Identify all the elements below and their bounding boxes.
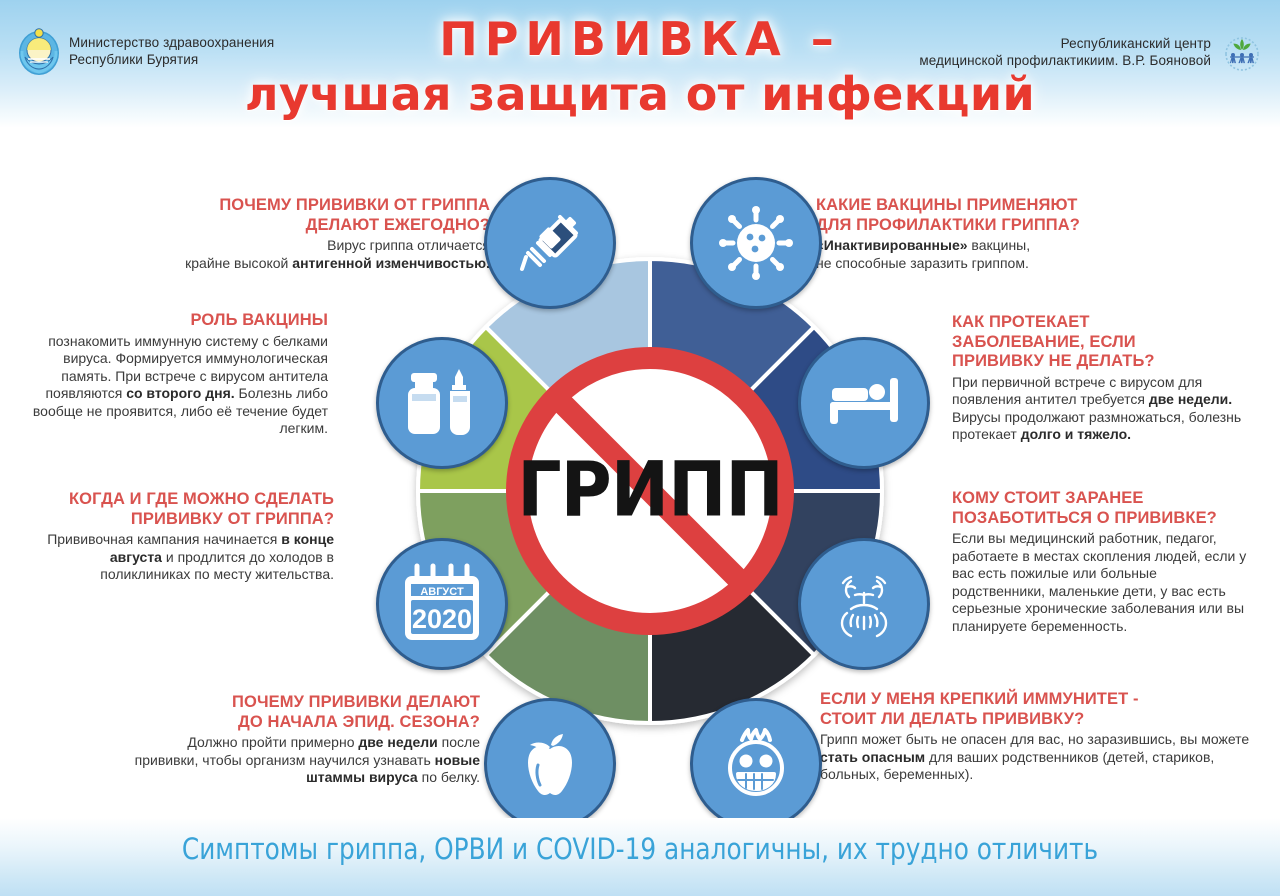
block-question: РОЛЬ ВАКЦИНЫ <box>28 311 328 331</box>
prevention-center-name: Республиканский центрмедицинской профила… <box>919 35 1211 69</box>
block-when-where: КОГДА И ГДЕ МОЖНО СДЕЛАТЬПРИВИВКУ ОТ ГРИ… <box>24 490 334 584</box>
block-disease-course: КАК ПРОТЕКАЕТЗАБОЛЕВАНИЕ, ЕСЛИПРИВИВКУ Н… <box>952 313 1252 444</box>
block-answer: Прививочная кампания начинается в конце … <box>24 531 334 584</box>
poster-root: Министерство здравоохраненияРеспублики Б… <box>0 0 1280 896</box>
calendar-year: 2020 <box>412 604 472 634</box>
block-question: КОМУ СТОИТ ЗАРАНЕЕПОЗАБОТИТЬСЯ О ПРИВИВК… <box>952 489 1252 528</box>
ampoule-icon <box>403 365 481 441</box>
block-answer: познакомить иммунную систему с белками в… <box>28 333 328 438</box>
wheel-icon-bed[interactable] <box>798 337 930 469</box>
wheel-icon-ampoule[interactable] <box>376 337 508 469</box>
footer-banner: Симптомы гриппа, ОРВИ и COVID-19 аналоги… <box>0 818 1280 896</box>
wheel-icon-smiley[interactable] <box>690 698 822 830</box>
medical-prevention-center-logo-icon <box>1220 30 1264 74</box>
prevention-center-block: Республиканский центрмедицинской профила… <box>919 30 1264 74</box>
center-label: ГРИПП <box>499 445 801 534</box>
sneeze-icon <box>825 565 903 643</box>
wheel-icon-virus[interactable] <box>690 177 822 309</box>
ministry-name: Министерство здравоохраненияРеспублики Б… <box>69 34 274 68</box>
footer-message: Симптомы гриппа, ОРВИ и COVID-19 аналоги… <box>32 832 1248 866</box>
header-banner: Министерство здравоохраненияРеспублики Б… <box>0 0 1280 128</box>
buryatia-coat-of-arms-icon <box>18 26 60 76</box>
bed-icon <box>826 372 902 434</box>
block-question: КОГДА И ГДЕ МОЖНО СДЕЛАТЬПРИВИВКУ ОТ ГРИ… <box>24 490 334 529</box>
wheel-icon-syringe[interactable] <box>484 177 616 309</box>
title-line-2: лучшая защита от инфекций <box>0 71 1280 117</box>
no-flu-prohibition-sign: ГРИПП <box>502 343 798 639</box>
block-who-should-care: КОМУ СТОИТ ЗАРАНЕЕПОЗАБОТИТЬСЯ О ПРИВИВК… <box>952 489 1252 635</box>
block-vaccine-role: РОЛЬ ВАКЦИНЫ познакомить иммунную систем… <box>28 311 328 438</box>
infographic-wheel: АВГУСТ 2020 <box>344 185 956 797</box>
calendar-icon: АВГУСТ 2020 <box>399 562 485 646</box>
apple-icon <box>514 727 586 801</box>
wheel-icon-calendar[interactable]: АВГУСТ 2020 <box>376 538 508 670</box>
wheel-icon-apple[interactable] <box>484 698 616 830</box>
wheel-icon-sneeze[interactable] <box>798 538 930 670</box>
block-answer: При первичной встрече с вирусом для появ… <box>952 374 1252 444</box>
block-question: КАК ПРОТЕКАЕТЗАБОЛЕВАНИЕ, ЕСЛИПРИВИВКУ Н… <box>952 313 1252 372</box>
block-answer: Если вы медицинский работник, педагог, р… <box>952 530 1252 635</box>
ministry-block: Министерство здравоохраненияРеспублики Б… <box>18 26 274 76</box>
smiley-icon <box>716 724 796 804</box>
calendar-month: АВГУСТ <box>420 586 464 598</box>
virus-icon <box>718 205 794 281</box>
syringe-icon <box>514 207 586 279</box>
